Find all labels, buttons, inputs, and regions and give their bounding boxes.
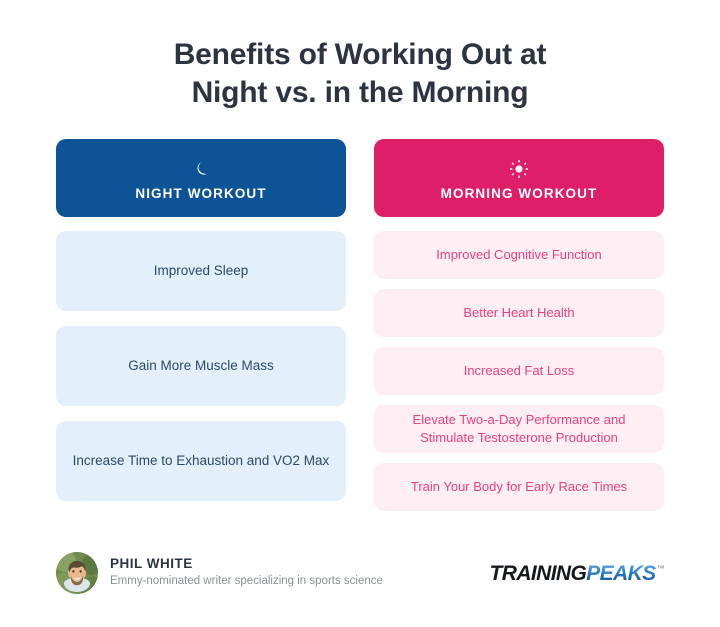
night-workout-header: NIGHT WORKOUT: [56, 139, 346, 217]
page-title-line-2: Night vs. in the Morning: [86, 74, 634, 112]
author-byline: PHIL WHITE Emmy-nominated writer special…: [56, 552, 383, 594]
benefit-card: Better Heart Health: [374, 289, 664, 337]
benefit-card: Increased Fat Loss: [374, 347, 664, 395]
night-benefit-list: Improved Sleep Gain More Muscle Mass Inc…: [56, 231, 346, 501]
night-workout-label: NIGHT WORKOUT: [135, 187, 266, 201]
avatar: [56, 552, 98, 594]
morning-workout-header: MORNING WORKOUT: [374, 139, 664, 217]
infographic-root: Benefits of Working Out at Night vs. in …: [0, 0, 720, 627]
logo-training-text: TRAINING: [490, 563, 587, 584]
page-title-line-1: Benefits of Working Out at: [86, 36, 634, 74]
crescent-moon-icon: [191, 159, 211, 179]
morning-workout-label: MORNING WORKOUT: [441, 187, 598, 201]
logo-peaks-text: PEAKS: [586, 563, 655, 584]
author-text: PHIL WHITE Emmy-nominated writer special…: [110, 557, 383, 589]
comparison-columns: NIGHT WORKOUT Improved Sleep Gain More M…: [56, 139, 664, 511]
author-bio: Emmy-nominated writer specializing in sp…: [110, 575, 383, 589]
author-name: PHIL WHITE: [110, 557, 383, 572]
sun-icon: [509, 159, 529, 179]
benefit-card: Elevate Two-a-Day Performance and Stimul…: [374, 405, 664, 453]
benefit-card: Train Your Body for Early Race Times: [374, 463, 664, 511]
logo-trademark-icon: ™: [657, 565, 664, 573]
trainingpeaks-logo: TRAININGPEAKS™: [490, 563, 664, 584]
morning-benefit-list: Improved Cognitive Function Better Heart…: [374, 231, 664, 511]
footer: PHIL WHITE Emmy-nominated writer special…: [56, 552, 664, 594]
benefit-card: Increase Time to Exhaustion and VO2 Max: [56, 421, 346, 501]
column-night-workout: NIGHT WORKOUT Improved Sleep Gain More M…: [56, 139, 346, 501]
benefit-card: Improved Cognitive Function: [374, 231, 664, 279]
column-morning-workout: MORNING WORKOUT Improved Cognitive Funct…: [374, 139, 664, 511]
page-title: Benefits of Working Out at Night vs. in …: [56, 36, 664, 113]
benefit-card: Gain More Muscle Mass: [56, 326, 346, 406]
benefit-card: Improved Sleep: [56, 231, 346, 311]
